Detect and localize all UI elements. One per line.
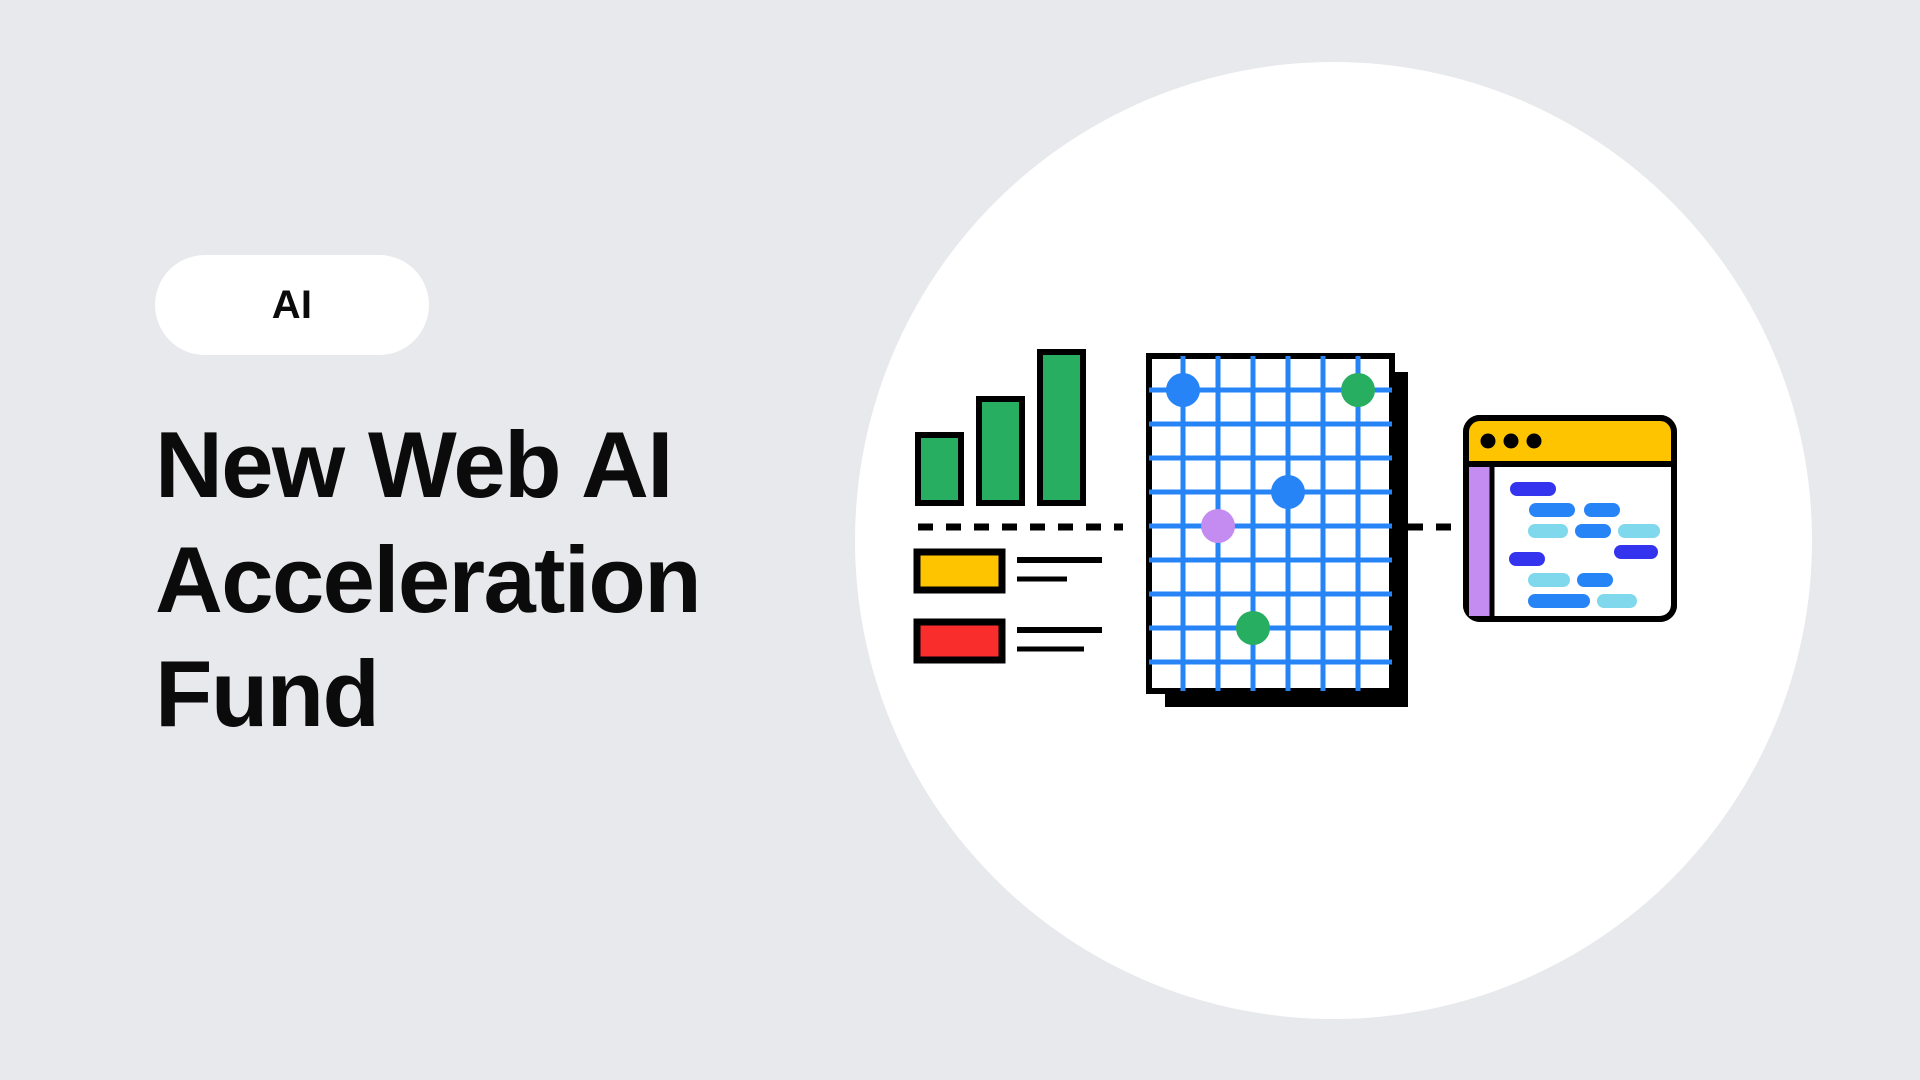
window-dot-3 xyxy=(1527,434,1542,449)
code-pill xyxy=(1510,482,1556,496)
code-pill xyxy=(1575,524,1611,538)
code-window-gutter xyxy=(1469,467,1491,616)
code-pill xyxy=(1614,545,1658,559)
code-window-traffic-lights[interactable] xyxy=(1481,434,1542,449)
code-pill xyxy=(1584,503,1620,517)
legend-item-yellow xyxy=(917,552,1102,590)
code-pill xyxy=(1529,503,1575,517)
code-pill xyxy=(1597,594,1637,608)
legend-swatch-red xyxy=(917,622,1002,660)
code-window-titlebar xyxy=(1466,418,1674,464)
page-title: New Web AI Acceleration Fund xyxy=(155,408,815,752)
code-pill xyxy=(1528,573,1570,587)
legend-group xyxy=(917,552,1102,660)
window-dot-2 xyxy=(1504,434,1519,449)
bar-chart-bar-2 xyxy=(979,399,1022,503)
data-point-purple-1 xyxy=(1201,509,1235,543)
data-point-blue-1 xyxy=(1166,373,1200,407)
code-pill xyxy=(1528,524,1568,538)
legend-swatch-yellow xyxy=(917,552,1002,590)
hero-banner: AI New Web AI Acceleration Fund xyxy=(0,0,1920,1080)
code-pill xyxy=(1528,594,1590,608)
bar-chart-bar-3 xyxy=(1040,352,1083,503)
code-pill xyxy=(1577,573,1613,587)
ai-pipeline-svg xyxy=(855,62,1812,1019)
window-dot-1 xyxy=(1481,434,1496,449)
bar-chart-group xyxy=(918,352,1083,503)
code-window-group xyxy=(1466,418,1674,619)
code-pill xyxy=(1618,524,1660,538)
illustration-container xyxy=(855,62,1812,1019)
code-pill xyxy=(1509,552,1545,566)
data-point-blue-2 xyxy=(1271,475,1305,509)
legend-item-red xyxy=(917,622,1102,660)
data-point-green-2 xyxy=(1236,611,1270,645)
bar-chart-bar-1 xyxy=(918,435,961,503)
data-point-green-1 xyxy=(1341,373,1375,407)
grid-sheet-group xyxy=(1149,356,1408,707)
text-column: AI New Web AI Acceleration Fund xyxy=(155,255,855,752)
category-badge-ai[interactable]: AI xyxy=(155,255,429,355)
